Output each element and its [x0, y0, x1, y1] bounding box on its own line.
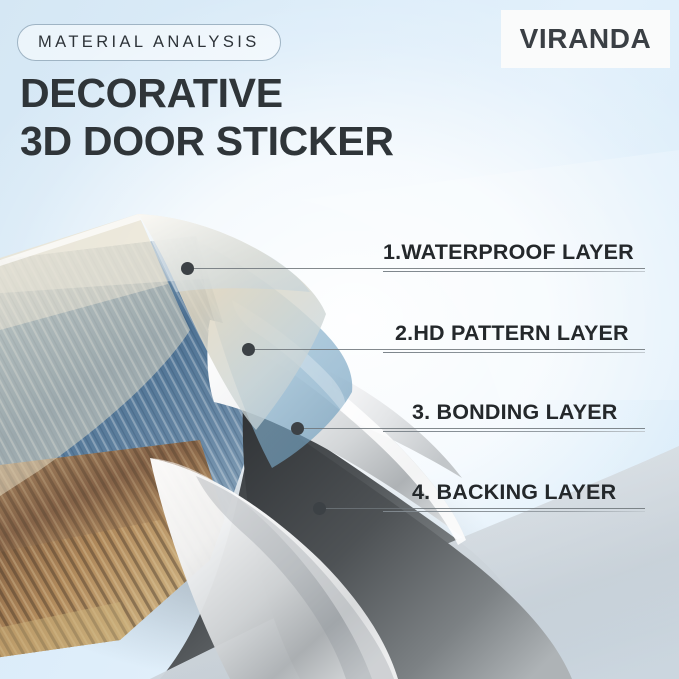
callout-label: 1.WATERPROOF LAYER [383, 240, 634, 270]
title-line-2: 3D DOOR STICKER [20, 118, 394, 166]
callout-underline [383, 511, 645, 512]
badge-label: MATERIAL ANALYSIS [38, 33, 260, 52]
poster-canvas: MATERIAL ANALYSIS DECORATIVE 3D DOOR STI… [0, 0, 679, 679]
callout-dot [242, 343, 255, 356]
callout-underline [383, 271, 645, 272]
callout-label: 2.HD PATTERN LAYER [395, 321, 629, 351]
callout-dot [313, 502, 326, 515]
page-title: DECORATIVE 3D DOOR STICKER [20, 70, 394, 165]
callout-label: 3. BONDING LAYER [412, 400, 618, 430]
callout-underline [383, 431, 645, 432]
callout-dot [291, 422, 304, 435]
callout-label: 4. BACKING LAYER [412, 480, 616, 510]
material-analysis-badge: MATERIAL ANALYSIS [17, 24, 281, 61]
title-line-1: DECORATIVE [20, 70, 283, 116]
brand-logo: VIRANDA [501, 10, 670, 68]
callout-dot [181, 262, 194, 275]
callout-underline [383, 352, 645, 353]
brand-name: VIRANDA [520, 23, 652, 55]
